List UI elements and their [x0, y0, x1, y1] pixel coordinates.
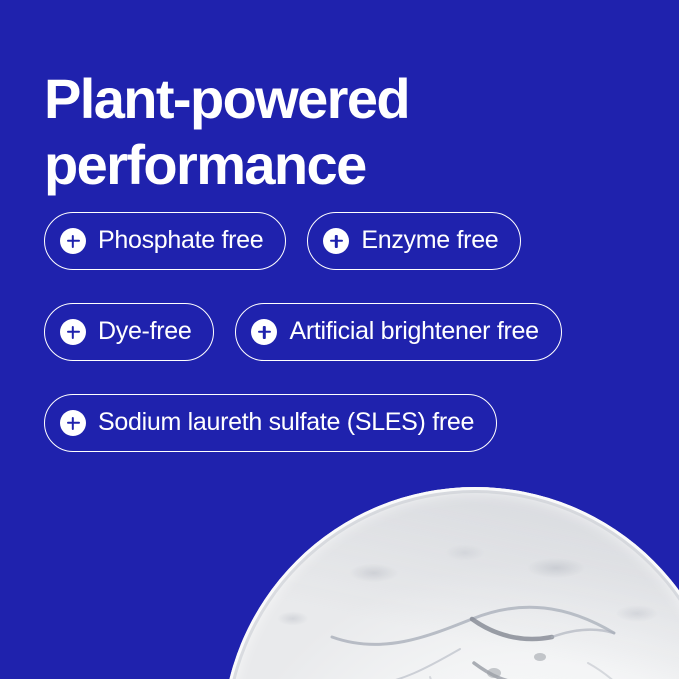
- marketing-graphic: Plant-powered performance Phosphate free…: [0, 0, 679, 679]
- badge-label: Sodium laureth sulfate (SLES) free: [98, 410, 474, 435]
- badge-row-3: Sodium laureth sulfate (SLES) free: [44, 394, 654, 452]
- badge-dye-free: Dye-free: [44, 303, 214, 361]
- badge-artificial-brightener-free: Artificial brightener free: [235, 303, 561, 361]
- plus-circle-icon: [60, 319, 86, 345]
- plus-circle-icon: [60, 410, 86, 436]
- plus-circle-icon: [251, 319, 277, 345]
- badge-label: Dye-free: [98, 319, 191, 344]
- badge-label: Artificial brightener free: [289, 319, 538, 344]
- plus-circle-icon: [60, 228, 86, 254]
- badge-label: Phosphate free: [98, 228, 263, 253]
- plus-circle-icon: [323, 228, 349, 254]
- badge-row-1: Phosphate free Enzyme free: [44, 212, 654, 270]
- badge-enzyme-free: Enzyme free: [307, 212, 521, 270]
- page-title: Plant-powered performance: [44, 66, 604, 198]
- feature-badge-list: Phosphate free Enzyme free Dye-free Arti…: [44, 212, 654, 485]
- badge-label: Enzyme free: [361, 228, 498, 253]
- badge-sles-free: Sodium laureth sulfate (SLES) free: [44, 394, 497, 452]
- headline-line-1: Plant-powered: [44, 66, 604, 132]
- badge-row-2: Dye-free Artificial brightener free: [44, 303, 654, 361]
- product-image-powder: [222, 487, 679, 679]
- badge-phosphate-free: Phosphate free: [44, 212, 286, 270]
- headline-line-2: performance: [44, 132, 604, 198]
